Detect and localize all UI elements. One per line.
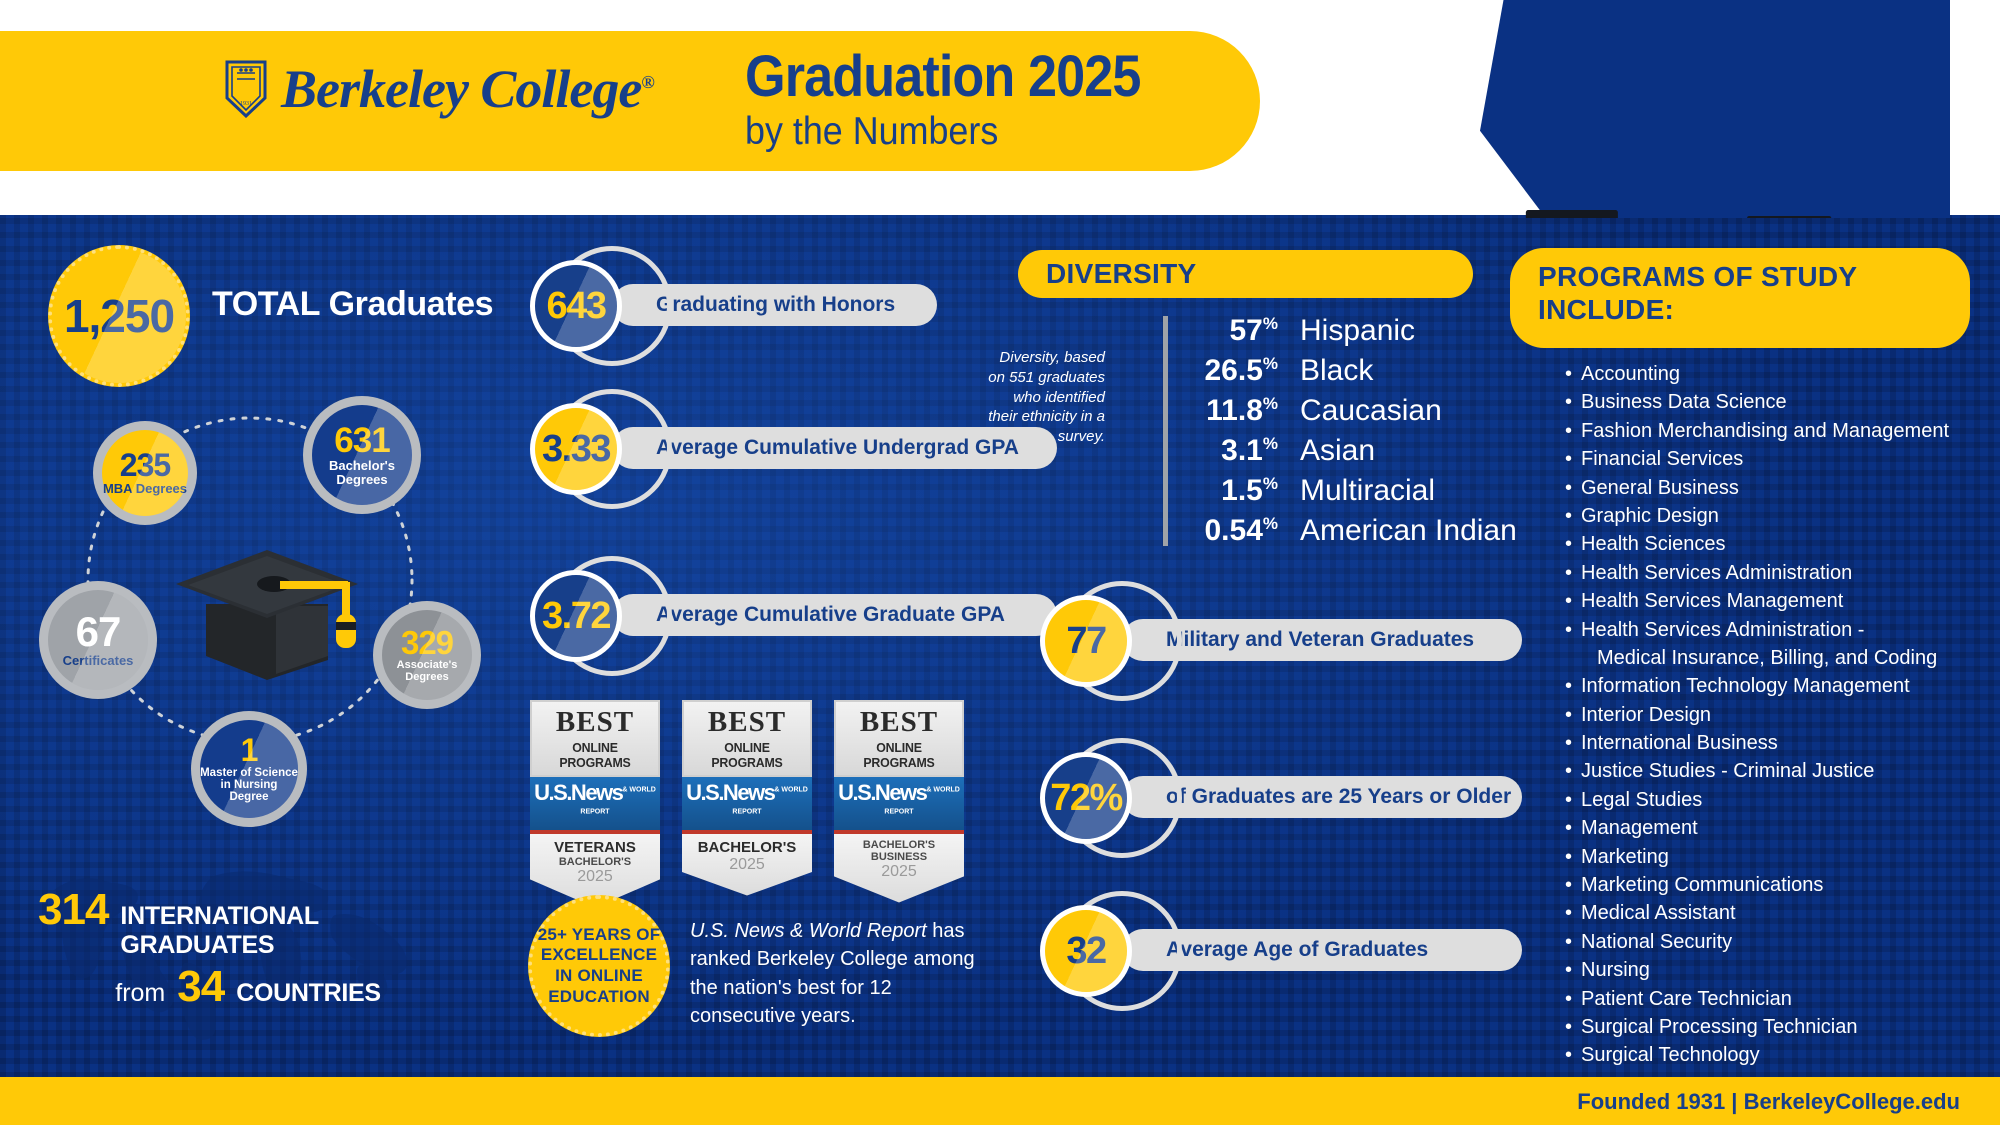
stat-bubble: 3.72 <box>530 570 622 662</box>
total-graduates-value: 1,250 <box>64 289 174 343</box>
stat-value: 32 <box>1066 930 1105 973</box>
stat-bubble: 77 <box>1040 595 1132 687</box>
degree-circle-mba: 235 MBA Degrees <box>102 430 188 516</box>
list-item: •Justice Studies - Criminal Justice <box>1565 757 1949 785</box>
badge-programs-text: ONLINE PROGRAMS <box>539 740 651 770</box>
list-item: •Health Services Administration - <box>1565 616 1949 644</box>
degree-value: 67 <box>76 612 121 652</box>
diversity-row: 26.5%Black <box>1180 354 1517 394</box>
diversity-row: 3.1%Asian <box>1180 434 1517 474</box>
stat-label: Average Cumulative Undergrad GPA <box>656 436 1019 460</box>
title-line-1: Graduation 2025 <box>745 47 1141 106</box>
graduates-photo <box>1420 0 1960 218</box>
stat-bubble: 72% <box>1040 752 1132 844</box>
diversity-ethnicity: American Indian <box>1300 514 1517 548</box>
footer-text: Founded 1931 | BerkeleyCollege.edu <box>1577 1089 1960 1115</box>
diversity-percent: 26.5 <box>1204 354 1262 387</box>
list-item: •International Business <box>1565 729 1949 757</box>
excellence-seal: 25+ YEARS OF EXCELLENCE IN ONLINE EDUCAT… <box>528 895 670 1037</box>
list-item: •Marketing <box>1565 843 1949 871</box>
stat-label: of Graduates are 25 Years or Older <box>1166 785 1511 809</box>
stat-label: Average Cumulative Graduate GPA <box>656 603 1005 627</box>
brand-name-text: Berkeley College <box>281 59 641 119</box>
degree-value: 631 <box>334 424 389 457</box>
list-item: •Marketing Communications <box>1565 871 1949 899</box>
diversity-percent: 1.5 <box>1221 474 1263 507</box>
list-item: •General Business <box>1565 474 1949 502</box>
diversity-note: Diversity, based on 551 graduates who id… <box>985 348 1105 447</box>
diversity-heading-text: DIVERSITY <box>1046 257 1197 290</box>
degree-label: Certificates <box>63 654 134 668</box>
programs-heading: PROGRAMS OF STUDY INCLUDE: <box>1510 248 1970 348</box>
list-item: •Nursing <box>1565 956 1949 984</box>
header: 1931 Berkeley College® Graduation 2025 b… <box>0 0 2000 215</box>
usnews-publication-name: U.S. News & World Report <box>690 920 927 942</box>
stat-label: Graduating with Honors <box>656 293 895 317</box>
usnews-badges: BESTONLINE PROGRAMS U.S.News& WORLD REPO… <box>530 700 964 908</box>
total-label-strong: TOTAL <box>212 285 320 323</box>
diversity-ethnicity: Multiracial <box>1300 474 1435 508</box>
list-item: •National Security <box>1565 928 1949 956</box>
total-graduates-label: TOTAL Graduates <box>212 285 493 324</box>
stat-bubble: 3.33 <box>530 403 622 495</box>
list-item: •Health Sciences <box>1565 530 1949 558</box>
diversity-list: 57%Hispanic 26.5%Black 11.8%Caucasian 3.… <box>1180 314 1517 554</box>
badge-best-text: BEST <box>840 709 958 737</box>
stat-bubble: 32 <box>1040 905 1132 997</box>
list-item: •Surgical Technology <box>1565 1041 1949 1069</box>
international-count-label: INTERNATIONAL GRADUATES <box>120 902 458 960</box>
diversity-ethnicity: Caucasian <box>1300 394 1442 428</box>
stat-value: 3.33 <box>542 428 610 471</box>
list-item: •Graphic Design <box>1565 502 1949 530</box>
diversity-heading: DIVERSITY <box>1018 250 1473 298</box>
stat-value: 3.72 <box>542 595 610 638</box>
list-item: •Accounting <box>1565 360 1949 388</box>
stat-pill: Average Cumulative Graduate GPA <box>612 594 1057 636</box>
list-item: •Business Data Science <box>1565 388 1949 416</box>
diversity-ethnicity: Black <box>1300 354 1373 388</box>
list-item: •Management <box>1565 814 1949 842</box>
diversity-ethnicity: Asian <box>1300 434 1375 468</box>
stat-label: Military and Veteran Graduates <box>1166 628 1474 652</box>
degree-value: 235 <box>120 450 170 480</box>
diversity-row: 57%Hispanic <box>1180 314 1517 354</box>
diversity-ethnicity: Hispanic <box>1300 314 1415 348</box>
international-graduates-block: 314 INTERNATIONAL GRADUATES from 34 COUN… <box>38 885 458 1012</box>
countries-count: 34 <box>177 962 224 1012</box>
programs-list: •Accounting •Business Data Science •Fash… <box>1565 360 1949 1070</box>
badge-best-text: BEST <box>688 709 806 737</box>
degree-label: Master of Science in Nursing Degree <box>200 767 298 803</box>
list-item: •Legal Studies <box>1565 786 1949 814</box>
degree-value: 329 <box>401 627 453 658</box>
list-item: •Health Services Management <box>1565 587 1949 615</box>
list-item: •Interior Design <box>1565 701 1949 729</box>
svg-text:1931: 1931 <box>240 101 252 107</box>
usnews-logo: U.S.News& WORLD REPORT <box>530 782 660 826</box>
brand-logo: 1931 Berkeley College® <box>225 58 654 120</box>
diversity-divider <box>1163 316 1168 546</box>
list-item: •Information Technology Management <box>1565 672 1949 700</box>
shield-crest-icon: 1931 <box>225 60 267 118</box>
usnews-logo: U.S.News& WORLD REPORT <box>682 782 812 826</box>
stat-bubble: 643 <box>530 260 622 352</box>
diversity-row: 0.54%American Indian <box>1180 514 1517 554</box>
badge-veterans: BESTONLINE PROGRAMS U.S.News& WORLD REPO… <box>530 700 660 908</box>
badge-bachelors-business: BESTONLINE PROGRAMS U.S.News& WORLD REPO… <box>834 700 964 908</box>
badge-programs-text: ONLINE PROGRAMS <box>691 740 803 770</box>
registered-mark: ® <box>641 72 653 92</box>
list-item: •Fashion Merchandising and Management <box>1565 417 1949 445</box>
badge-year: 2025 <box>682 856 812 874</box>
degree-value: 1 <box>241 735 258 765</box>
degree-label: Bachelor's Degrees <box>329 459 395 486</box>
stat-pill: of Graduates are 25 Years or Older <box>1122 776 1522 818</box>
from-word: from <box>115 979 165 1008</box>
usnews-ranking-note: U.S. News & World Report has ranked Berk… <box>690 917 990 1031</box>
diversity-percent: 0.54 <box>1204 514 1262 547</box>
programs-heading-text: PROGRAMS OF STUDY INCLUDE: <box>1538 260 1942 326</box>
diversity-row: 1.5%Multiracial <box>1180 474 1517 514</box>
badge-year: 2025 <box>834 863 964 881</box>
stat-pill: Military and Veteran Graduates <box>1122 619 1522 661</box>
stat-label: Average Age of Graduates <box>1166 938 1428 962</box>
list-item: •Financial Services <box>1565 445 1949 473</box>
badge-best-text: BEST <box>536 709 654 737</box>
list-item: •Health Services Administration <box>1565 559 1949 587</box>
international-count: 314 <box>38 885 108 935</box>
stat-value: 643 <box>547 285 606 328</box>
total-graduates-circle: 1,250 <box>48 245 190 387</box>
degree-label: Associate's Degrees <box>397 660 458 683</box>
stat-value: 77 <box>1066 620 1105 663</box>
degree-label: MBA Degrees <box>103 482 187 496</box>
footer: Founded 1931 | BerkeleyCollege.edu <box>0 1077 2000 1125</box>
badge-line2: BACHELOR'S <box>530 856 660 868</box>
page-title: Graduation 2025 by the Numbers <box>745 47 1184 154</box>
usnews-logo: U.S.News& WORLD REPORT <box>834 782 964 826</box>
title-line-2: by the Numbers <box>745 110 1149 154</box>
badge-bachelors: BESTONLINE PROGRAMS U.S.News& WORLD REPO… <box>682 700 812 908</box>
badge-year: 2025 <box>530 868 660 886</box>
degree-circle-bachelors: 631 Bachelor's Degrees <box>312 405 412 505</box>
countries-label: COUNTRIES <box>236 979 381 1008</box>
stat-value: 72% <box>1050 777 1122 820</box>
stat-pill: Average Age of Graduates <box>1122 929 1522 971</box>
list-item: •Medical Assistant <box>1565 899 1949 927</box>
diversity-percent: 57 <box>1230 314 1263 347</box>
diversity-percent: 11.8 <box>1206 394 1263 427</box>
badge-programs-text: ONLINE PROGRAMS <box>843 740 955 770</box>
badge-line1: BACHELOR'S <box>834 839 964 851</box>
brand-name: Berkeley College® <box>281 58 654 120</box>
seal-text: 25+ YEARS OF EXCELLENCE IN ONLINE EDUCAT… <box>532 925 666 1008</box>
list-item-continuation: Medical Insurance, Billing, and Coding <box>1565 644 1949 672</box>
diversity-percent: 3.1 <box>1221 434 1263 467</box>
badge-line1: BACHELOR'S <box>682 839 812 856</box>
list-item: •Surgical Processing Technician <box>1565 1013 1949 1041</box>
badge-line2: BUSINESS <box>834 851 964 863</box>
graduation-cap-icon <box>168 522 398 682</box>
list-item: •Patient Care Technician <box>1565 985 1949 1013</box>
diversity-row: 11.8%Caucasian <box>1180 394 1517 434</box>
degree-circle-msn: 1 Master of Science in Nursing Degree <box>200 720 298 818</box>
degree-circle-certificates: 67 Certificates <box>48 590 148 690</box>
total-label-rest: Graduates <box>320 285 494 323</box>
badge-line1: VETERANS <box>530 839 660 856</box>
